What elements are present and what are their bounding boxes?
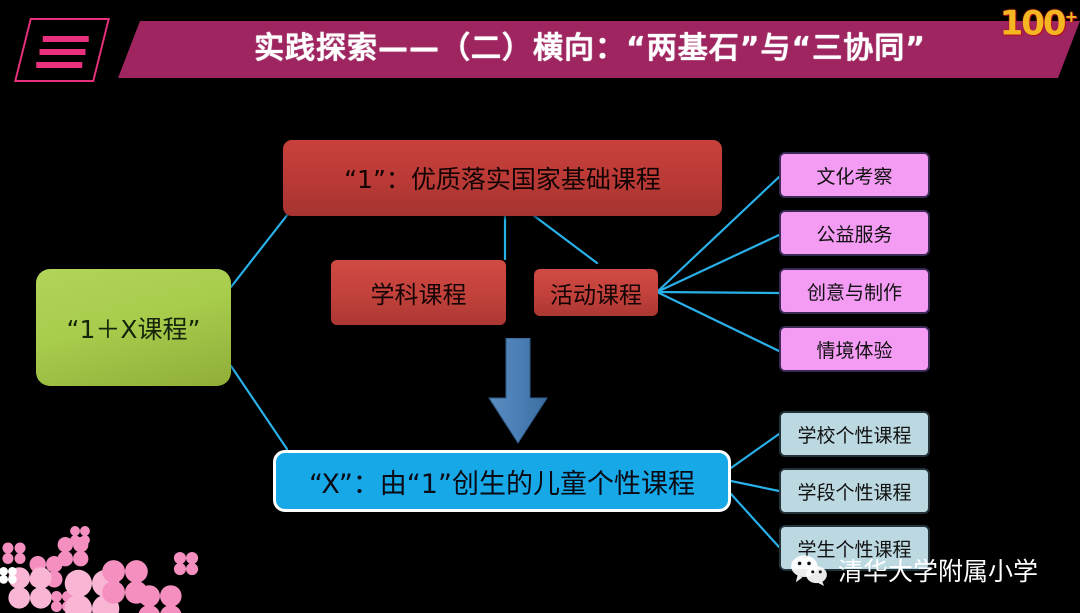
hamburger-three-bars-icon: [14, 18, 110, 82]
page-title: 实践探索——（二）横向：“两基石”与“三协同”: [150, 21, 1030, 78]
connector-activity-to-situation: [657, 292, 779, 351]
slide-header: 实践探索——（二）横向：“两基石”与“三协同” 100+: [0, 0, 1080, 100]
node-stage-personal-course[interactable]: 学段个性课程: [779, 468, 930, 514]
slide-canvas: 实践探索——（二）横向：“两基石”与“三协同” 100+: [0, 0, 1080, 613]
pink-flowers-decoration: [0, 513, 230, 613]
logo-bar-1: [43, 36, 89, 42]
connector-x-to-stage: [731, 481, 779, 491]
connector-activity-to-service: [657, 235, 779, 292]
node-culture-survey[interactable]: 文化考察: [779, 152, 930, 198]
node-subject-course[interactable]: 学科课程: [331, 260, 506, 325]
connector-x-to-school: [731, 434, 779, 468]
node-branch-x[interactable]: “X”：由“1”创生的儿童个性课程: [273, 450, 731, 512]
connector-activity-to-creation: [657, 292, 779, 293]
node-public-service[interactable]: 公益服务: [779, 210, 930, 256]
badge-number: 100: [1000, 3, 1065, 43]
connector-x-to-student: [731, 494, 779, 547]
node-situational-experience[interactable]: 情境体验: [779, 326, 930, 372]
watermark: 清华大学附属小学: [790, 548, 1070, 592]
anniversary-100-badge: 100+: [990, 0, 1076, 42]
watermark-text: 清华大学附属小学: [838, 552, 1038, 588]
node-activity-course[interactable]: 活动课程: [534, 269, 658, 316]
logo-bar-2: [40, 49, 86, 55]
connector-root-to-branch-x: [231, 366, 287, 449]
node-school-personal-course[interactable]: 学校个性课程: [779, 411, 930, 457]
connector-root-to-branch-one: [231, 214, 288, 287]
down-arrow: [487, 338, 549, 446]
badge-plus: +: [1065, 7, 1076, 26]
connector-branch-one-to-activity: [533, 215, 597, 263]
wechat-icon: [790, 554, 828, 586]
logo-bar-3: [36, 62, 82, 68]
node-root-1-plus-x[interactable]: “1＋X课程”: [36, 269, 231, 386]
node-creative-making[interactable]: 创意与制作: [779, 268, 930, 314]
node-branch-one[interactable]: “1”：优质落实国家基础课程: [283, 140, 722, 216]
